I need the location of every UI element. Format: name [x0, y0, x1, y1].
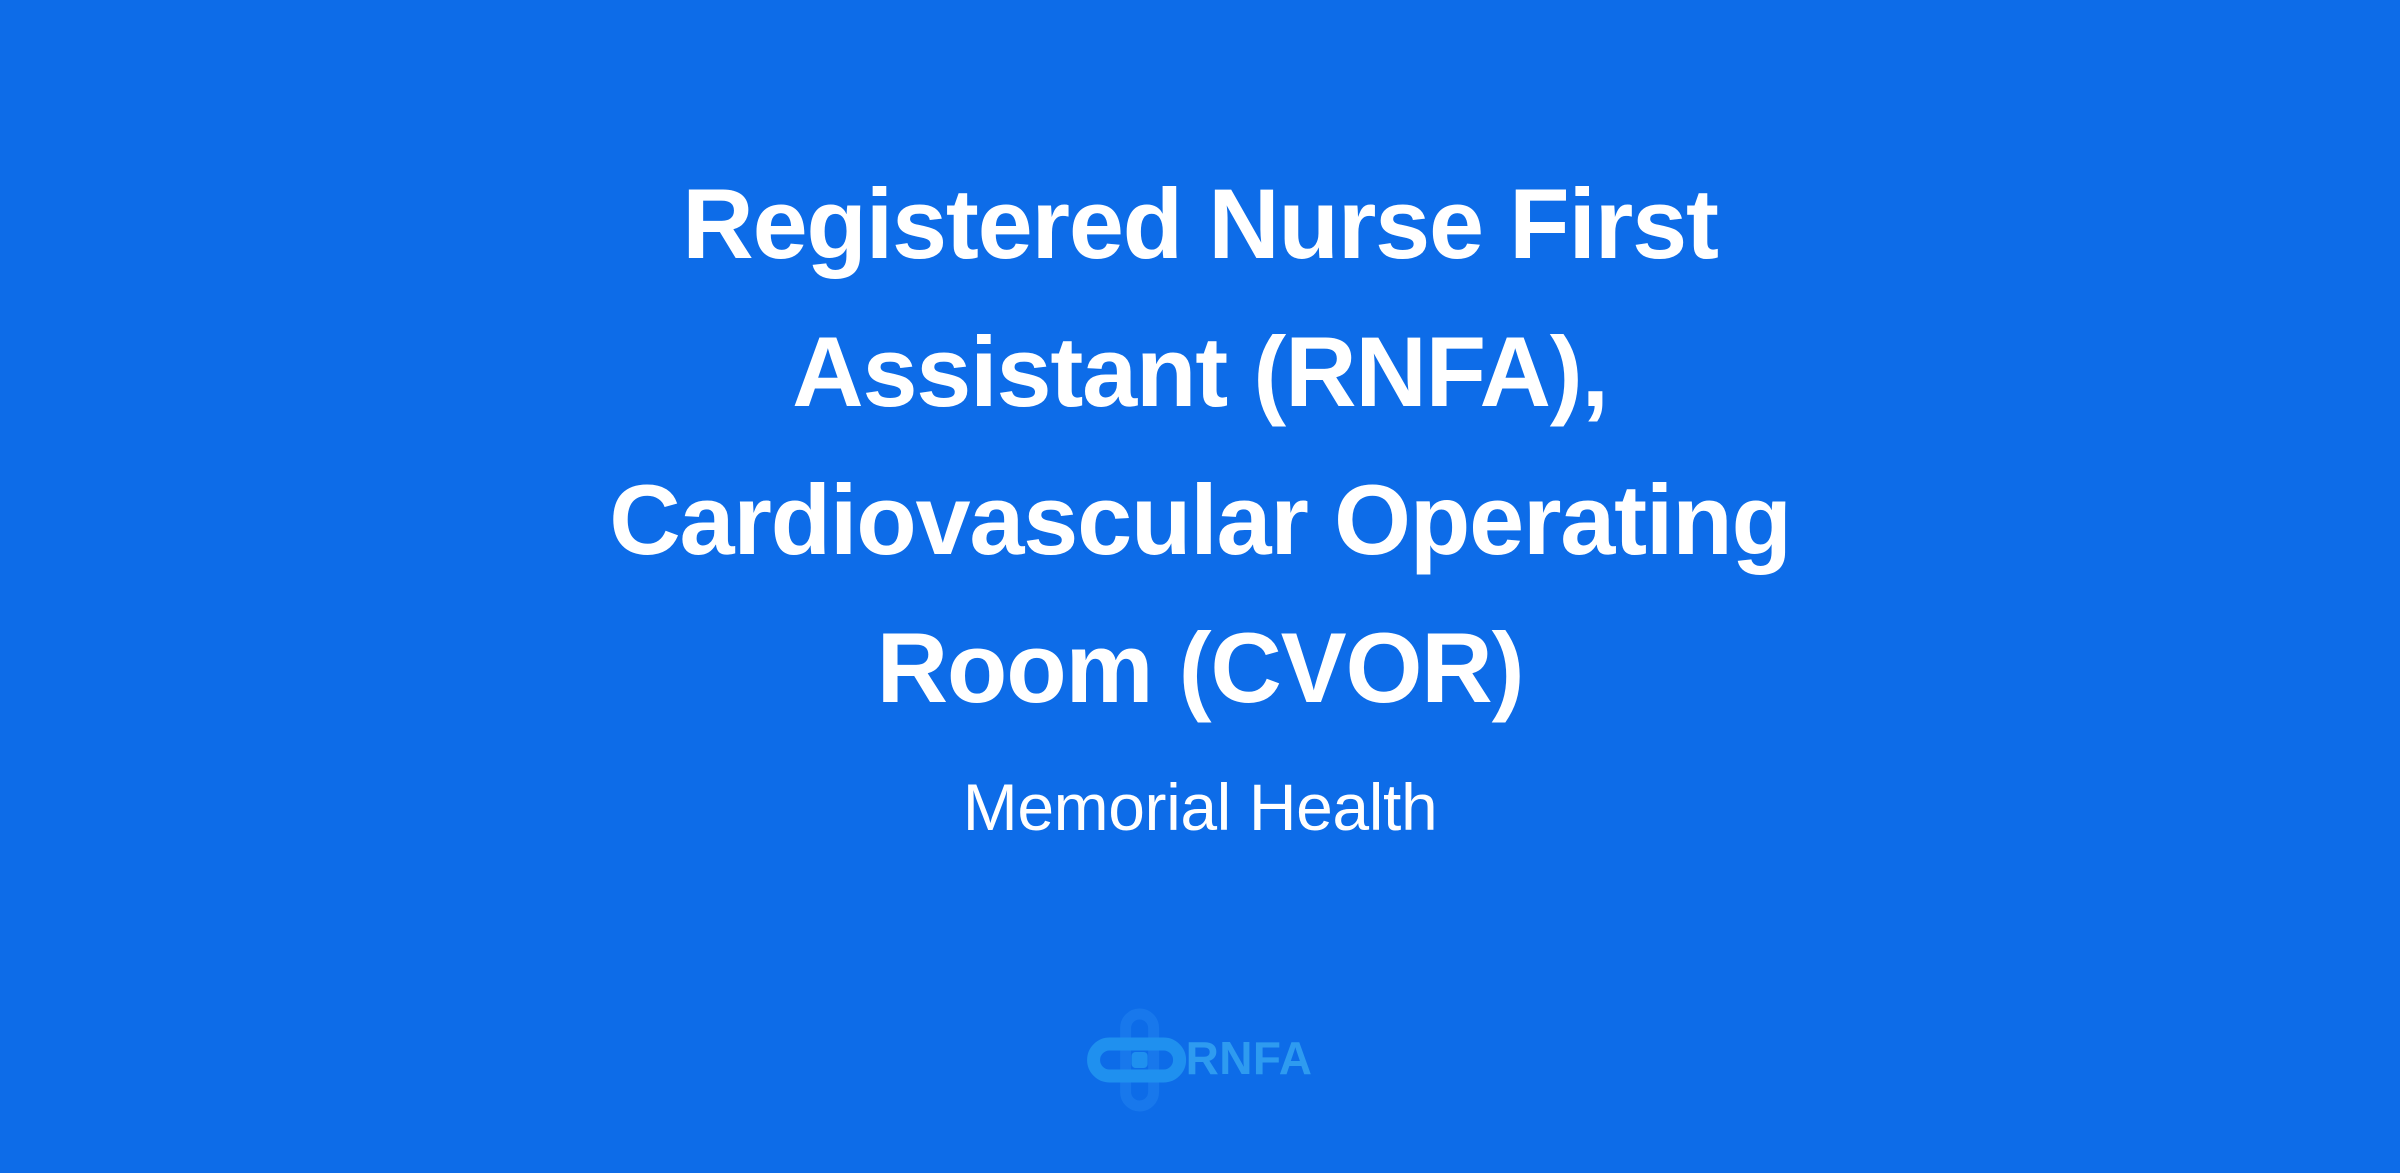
employer-name: Memorial Health — [963, 768, 1438, 846]
page-title: Registered Nurse First Assistant (RNFA),… — [480, 150, 1920, 742]
job-share-card: Registered Nurse First Assistant (RNFA),… — [0, 0, 2400, 1173]
hero-text-block: Registered Nurse First Assistant (RNFA),… — [0, 150, 2400, 846]
rnfa-logo: RNFA — [1088, 1012, 1313, 1108]
chain-link-icon — [1088, 1012, 1192, 1108]
logo-wordmark: RNFA — [1186, 1035, 1313, 1081]
